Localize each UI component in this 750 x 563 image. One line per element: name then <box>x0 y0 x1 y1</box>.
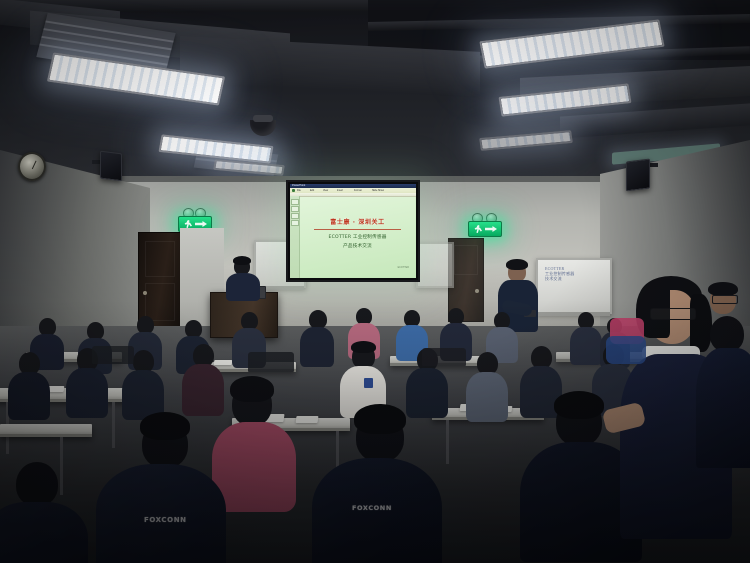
handout <box>214 360 233 365</box>
slide-footer: ECOTTER <box>398 266 409 269</box>
seminar-room-photo: ECOTTER 工业控制传感器 技术交流 PowerPoint File Edi… <box>0 0 750 563</box>
whiteboard-center-right <box>416 242 454 288</box>
menu-item-file[interactable]: File <box>297 189 301 193</box>
handout <box>296 416 319 423</box>
eyeglasses <box>712 295 738 304</box>
bag <box>606 336 646 364</box>
menu-item-insert[interactable]: Insert <box>337 189 343 193</box>
wall-speaker <box>626 159 650 192</box>
projected-slide: PowerPoint File Edit View Insert Format … <box>290 184 416 278</box>
desk-leg <box>446 420 449 464</box>
slide-canvas: 富士康 · 深圳关工 ECOTTER 工业控制传感器 产品技术交流 ECOTTE… <box>300 197 415 277</box>
classroom-chair <box>422 348 466 366</box>
menu-item-edit[interactable]: Edit <box>310 189 314 193</box>
eyeglasses <box>650 308 696 320</box>
foxconn-logo: FOXCONN <box>352 504 392 512</box>
menu-item-view[interactable]: View <box>323 189 328 193</box>
slide-subtitle-line2: 产品技术交流 <box>300 243 415 249</box>
exit-sign-right-group <box>468 221 502 237</box>
projection-screen: PowerPoint File Edit View Insert Format … <box>286 180 420 282</box>
menu-item-format[interactable]: Format <box>354 189 362 193</box>
wall-clock <box>18 152 46 181</box>
slide-title: 富士康 · 深圳关工 <box>300 217 415 226</box>
classroom-desk <box>0 424 92 437</box>
whiteboard-writing: ECOTTER 工业控制传感器 技术交流 <box>545 266 574 281</box>
shirt-logo <box>364 378 373 388</box>
classroom-chair <box>92 346 134 364</box>
slide-divider <box>314 229 401 230</box>
menu-item-slideshow[interactable]: Slide Show <box>372 189 384 193</box>
desk-leg <box>112 402 115 448</box>
foxconn-logo: FOXCONN <box>144 516 187 524</box>
ponytail <box>690 294 712 352</box>
classroom-chair <box>248 352 294 372</box>
whiteboard-right: ECOTTER 工业控制传感器 技术交流 <box>536 258 612 314</box>
slide-subtitle-line1: ECOTTER 工业控制传感器 <box>300 234 415 240</box>
wall-speaker <box>100 151 122 182</box>
desk-leg <box>60 437 63 495</box>
exit-sign-icon <box>468 221 502 237</box>
slide-thumbnail-pane[interactable] <box>290 196 300 278</box>
